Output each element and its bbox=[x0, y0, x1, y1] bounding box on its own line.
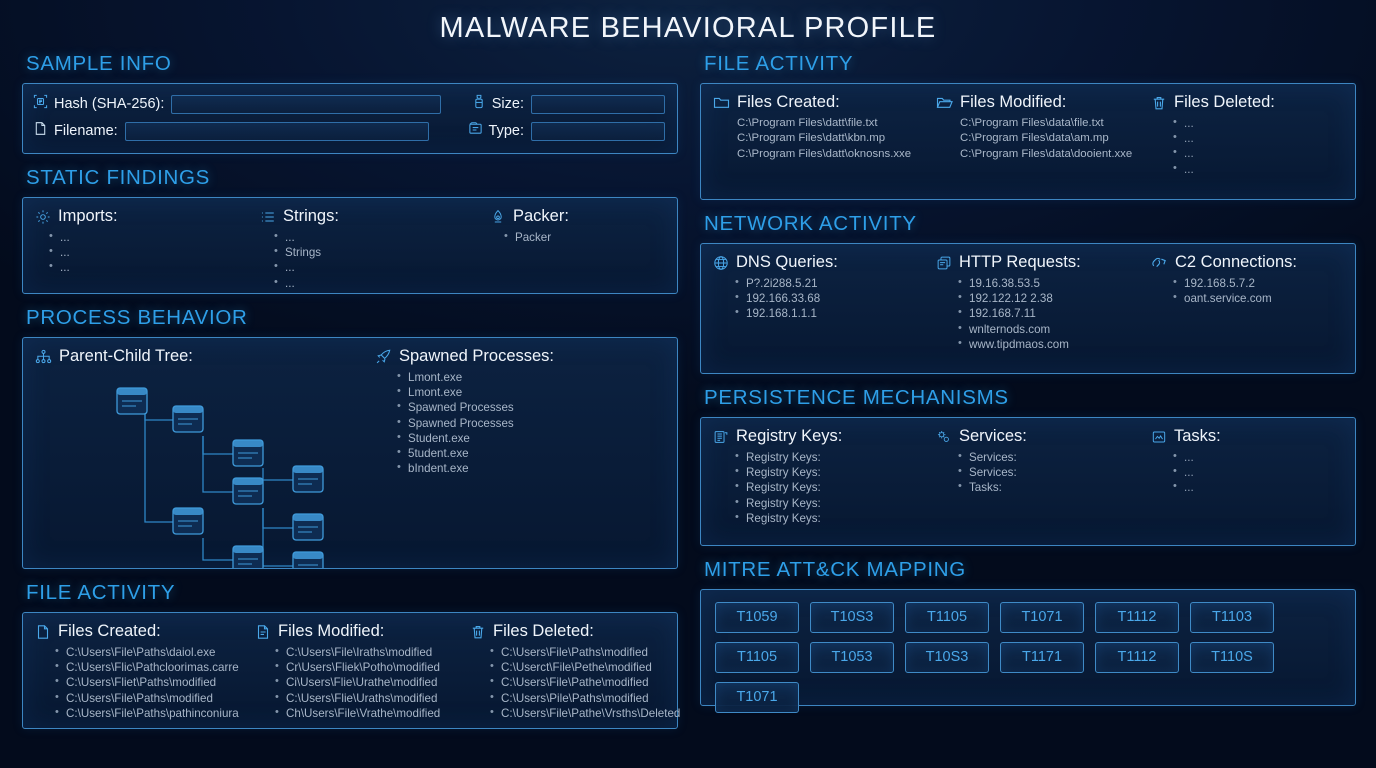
services-label: Services: bbox=[959, 427, 1027, 446]
files-created-list-bottom: C:\Users\File\Paths\daiol.exe C:\Users\F… bbox=[55, 645, 255, 721]
services-list: Services: Services: Tasks: bbox=[958, 450, 1151, 496]
list-item: Student.exe bbox=[397, 431, 554, 446]
list-item: ... bbox=[1173, 480, 1221, 495]
list-item: C:\Userct\File\Pethe\modified bbox=[490, 660, 680, 675]
field-type: Type: bbox=[468, 121, 665, 141]
http-requests-header: HTTP Requests: bbox=[936, 253, 1151, 272]
mitre-chip[interactable]: T1112 bbox=[1095, 602, 1179, 633]
list-item: C:\Users\File\Iraths\modified bbox=[275, 645, 470, 660]
list-item: Packer bbox=[504, 230, 569, 245]
static-group-strings-header: Strings: bbox=[260, 207, 490, 226]
files-created-header-bottom: Files Created: bbox=[35, 622, 255, 641]
static-group-imports: Imports: ... ... ... bbox=[35, 207, 260, 291]
list-item: Registry Keys: bbox=[735, 511, 936, 526]
section-title-mitre: MITRE ATT&CK MAPPING bbox=[704, 558, 1356, 582]
list-item: C:\Users\Flic\Pathcloorimas.carre bbox=[55, 660, 255, 675]
spawned-processes-label: Spawned Processes: bbox=[399, 347, 554, 366]
section-title-static-findings: STATIC FINDINGS bbox=[26, 166, 678, 190]
files-created-list-top: C:\Program Files\datt\file.txt C:\Progra… bbox=[737, 116, 936, 162]
list-item: ... bbox=[1173, 116, 1275, 131]
list-item: C:\Users\File\Paths\modified bbox=[55, 691, 255, 706]
services-icon bbox=[936, 429, 952, 445]
tasks-group: Tasks: ... ... ... bbox=[1151, 427, 1221, 526]
field-label-filename: Filename: bbox=[54, 123, 118, 139]
tasks-header: Tasks: bbox=[1151, 427, 1221, 446]
list-item: C:\Users\Pile\Paths\modified bbox=[490, 691, 680, 706]
sitemap-icon bbox=[35, 349, 52, 365]
list-item: Ch\Users\File\Vrathe\modified bbox=[275, 706, 470, 721]
section-title-sample-info: SAMPLE INFO bbox=[26, 52, 678, 76]
list-item: 192.168.1.1.1 bbox=[735, 306, 936, 321]
spawned-processes-list: Lmont.exe Lmont.exe Spawned Processes Sp… bbox=[397, 370, 554, 476]
sample-info-panel: Hash (SHA-256): Size: bbox=[22, 83, 678, 154]
files-created-label-top: Files Created: bbox=[737, 93, 840, 112]
trash-icon bbox=[470, 624, 486, 640]
packer-list: Packer bbox=[504, 230, 569, 245]
files-modified-list-bottom: C:\Users\File\Iraths\modified Cr\Users\F… bbox=[275, 645, 470, 721]
registry-keys-header: Registry Keys: bbox=[713, 427, 936, 446]
folder-open-icon bbox=[936, 95, 953, 110]
trash-icon bbox=[1151, 95, 1167, 111]
parent-child-tree-header: Parent-Child Tree: bbox=[35, 347, 375, 366]
form-row-filename: Filename: Type: bbox=[33, 121, 665, 141]
dns-queries-group: DNS Queries: P?.2i288.5.21 192.166.33.68… bbox=[713, 253, 936, 352]
c2-link-icon bbox=[1151, 255, 1168, 271]
list-item: C:\Users\File\Pathe\modified bbox=[490, 675, 680, 690]
tasks-list: ... ... ... bbox=[1173, 450, 1221, 496]
list-item: ... bbox=[274, 260, 490, 275]
list-item: C:\Users\File\Paths\modified bbox=[490, 645, 680, 660]
list-item: ... bbox=[1173, 162, 1275, 177]
section-title-process-behavior: PROCESS BEHAVIOR bbox=[26, 306, 678, 330]
files-deleted-group-bottom: Files Deleted: C:\Users\File\Paths\modif… bbox=[470, 622, 680, 721]
persistence-columns: Registry Keys: Registry Keys: Registry K… bbox=[713, 427, 1343, 526]
registry-icon bbox=[713, 429, 729, 445]
strings-list: ... Strings ... ... bbox=[274, 230, 490, 291]
globe-icon bbox=[713, 255, 729, 271]
network-activity-panel: DNS Queries: P?.2i288.5.21 192.166.33.68… bbox=[700, 243, 1356, 374]
c2-connections-list: 192.168.5.7.2 oant.service.com bbox=[1173, 276, 1297, 306]
filename-input[interactable] bbox=[125, 122, 429, 141]
services-group: Services: Services: Services: Tasks: bbox=[936, 427, 1151, 526]
size-input[interactable] bbox=[531, 95, 665, 114]
files-modified-group-top: Files Modified: C:\Program Files\data\fi… bbox=[936, 93, 1151, 177]
files-deleted-label-bottom: Files Deleted: bbox=[493, 622, 594, 641]
files-modified-label-top: Files Modified: bbox=[960, 93, 1066, 112]
file-type-icon bbox=[468, 121, 483, 141]
process-tree bbox=[35, 370, 375, 568]
list-item: C:\Program Files\data\am.mp bbox=[960, 131, 1151, 146]
tasks-label: Tasks: bbox=[1174, 427, 1221, 446]
c2-connections-group: C2 Connections: 192.168.5.7.2 oant.servi… bbox=[1151, 253, 1297, 352]
mitre-chip[interactable]: T1053 bbox=[810, 642, 894, 673]
list-item: 192.168.7.11 bbox=[958, 306, 1151, 321]
network-activity-columns: DNS Queries: P?.2i288.5.21 192.166.33.68… bbox=[713, 253, 1343, 352]
mitre-chip[interactable]: T1103 bbox=[1190, 602, 1274, 633]
mitre-chip[interactable]: T110S bbox=[1190, 642, 1274, 673]
list-item: Registry Keys: bbox=[735, 480, 936, 495]
process-behavior-columns: Parent-Child Tree: bbox=[35, 347, 665, 568]
list-item: ... bbox=[1173, 146, 1275, 161]
list-item: Lmont.exe bbox=[397, 385, 554, 400]
list-item: C:\Users\File\Paths\pathinconiura bbox=[55, 706, 255, 721]
files-created-group-bottom: Files Created: C:\Users\File\Paths\daiol… bbox=[35, 622, 255, 721]
services-header: Services: bbox=[936, 427, 1151, 446]
list-item: Registry Keys: bbox=[735, 465, 936, 480]
parent-child-tree-group: Parent-Child Tree: bbox=[35, 347, 375, 568]
section-title-persistence: PERSISTENCE MECHANISMS bbox=[704, 386, 1356, 410]
registry-keys-list: Registry Keys: Registry Keys: Registry K… bbox=[735, 450, 936, 526]
files-modified-header-top: Files Modified: bbox=[936, 93, 1151, 112]
field-size: Size: bbox=[472, 94, 665, 114]
files-modified-header-bottom: Files Modified: bbox=[255, 622, 470, 641]
files-deleted-group-top: Files Deleted: ... ... ... ... bbox=[1151, 93, 1275, 177]
file-edit-icon bbox=[255, 624, 271, 640]
static-group-strings: Strings: ... Strings ... ... bbox=[260, 207, 490, 291]
form-row-hash: Hash (SHA-256): Size: bbox=[33, 94, 665, 114]
file-icon bbox=[33, 121, 48, 141]
list-item: C:\Users\File\Paths\daiol.exe bbox=[55, 645, 255, 660]
tasks-icon bbox=[1151, 429, 1167, 445]
list-item: wnlternods.com bbox=[958, 322, 1151, 337]
list-item: 5tudent.exe bbox=[397, 446, 554, 461]
folder-icon bbox=[713, 95, 730, 110]
static-findings-columns: Imports: ... ... ... bbox=[35, 207, 665, 291]
list-item: ... bbox=[49, 230, 260, 245]
files-created-header-top: Files Created: bbox=[713, 93, 936, 112]
dns-queries-list: P?.2i288.5.21 192.166.33.68 192.168.1.1.… bbox=[735, 276, 936, 322]
mitre-technique-chips: T1059 T10S3 T1105 T1071 T1112 T1103 T110… bbox=[713, 599, 1343, 717]
list-item: C:\Program Files\data\dooient.xxe bbox=[960, 147, 1151, 162]
static-group-packer: Packer: Packer bbox=[490, 207, 569, 291]
list-item: C:\Program Files\datt\file.txt bbox=[737, 116, 936, 131]
list-item: Spawned Processes bbox=[397, 416, 554, 431]
field-label-hash: Hash (SHA-256): bbox=[54, 96, 164, 112]
static-group-strings-label: Strings: bbox=[283, 207, 339, 226]
list-item: C:\Users\File\Pathe\Vrsths\Deleted bbox=[490, 706, 680, 721]
list-item: P?.2i288.5.21 bbox=[735, 276, 936, 291]
static-group-packer-label: Packer: bbox=[513, 207, 569, 226]
field-label-type: Type: bbox=[489, 123, 524, 139]
files-deleted-label-top: Files Deleted: bbox=[1174, 93, 1275, 112]
mitre-chip[interactable]: T10S3 bbox=[810, 602, 894, 633]
list-item: 192.122.12 2.38 bbox=[958, 291, 1151, 306]
list-item: Lmont.exe bbox=[397, 370, 554, 385]
field-label-size: Size: bbox=[492, 96, 524, 112]
list-item: C:\Users\Fliet\Paths\modified bbox=[55, 675, 255, 690]
files-deleted-list-bottom: C:\Users\File\Paths\modified C:\Userct\F… bbox=[490, 645, 680, 721]
list-item: C:\Program Files\datt\kbn.mp bbox=[737, 131, 936, 146]
list-item: 19.16.38.53.5 bbox=[958, 276, 1151, 291]
list-item: ... bbox=[49, 260, 260, 275]
process-behavior-panel: Parent-Child Tree: bbox=[22, 337, 678, 569]
left-column: SAMPLE INFO Hash (SHA-256): bbox=[22, 52, 678, 729]
type-input[interactable] bbox=[531, 122, 665, 141]
static-group-imports-label: Imports: bbox=[58, 207, 118, 226]
list-item: 192.166.33.68 bbox=[735, 291, 936, 306]
files-modified-group-bottom: Files Modified: C:\Users\File\Iraths\mod… bbox=[255, 622, 470, 721]
list-item: Cr\Users\Fliek\Potho\modified bbox=[275, 660, 470, 675]
right-column: FILE ACTIVITY Files Created: C:\Program … bbox=[700, 52, 1356, 706]
imports-list: ... ... ... bbox=[49, 230, 260, 276]
list-item: Spawned Processes bbox=[397, 400, 554, 415]
section-title-file-activity-bottom: FILE ACTIVITY bbox=[26, 581, 678, 605]
list-item: Services: bbox=[958, 450, 1151, 465]
list-item: C:\Program Files\data\file.txt bbox=[960, 116, 1151, 131]
list-item: ... bbox=[274, 230, 490, 245]
spawned-processes-header: Spawned Processes: bbox=[375, 347, 554, 366]
malware-profile-dashboard: MALWARE BEHAVIORAL PROFILE SAMPLE INFO H… bbox=[0, 0, 1376, 768]
gear-icon bbox=[35, 209, 51, 225]
list-item: ... bbox=[1173, 131, 1275, 146]
list-item: ... bbox=[49, 245, 260, 260]
c2-connections-header: C2 Connections: bbox=[1151, 253, 1297, 272]
files-created-label-bottom: Files Created: bbox=[58, 622, 161, 641]
mitre-chip[interactable]: T1059 bbox=[715, 602, 799, 633]
files-modified-list-top: C:\Program Files\data\file.txt C:\Progra… bbox=[960, 116, 1151, 162]
mitre-chip[interactable]: T1112 bbox=[1095, 642, 1179, 673]
size-icon bbox=[472, 94, 486, 114]
hash-input[interactable] bbox=[171, 95, 441, 114]
mitre-chip[interactable]: T1071 bbox=[715, 682, 799, 713]
page-title: MALWARE BEHAVIORAL PROFILE bbox=[0, 12, 1376, 45]
static-group-imports-header: Imports: bbox=[35, 207, 260, 226]
mitre-chip[interactable]: T10S3 bbox=[905, 642, 989, 673]
http-icon bbox=[936, 255, 952, 271]
list-item: www.tipdmaos.com bbox=[958, 337, 1151, 352]
mitre-chip[interactable]: T1105 bbox=[715, 642, 799, 673]
list-item: C:\Users\Flie\Uraths\modified bbox=[275, 691, 470, 706]
files-deleted-header-bottom: Files Deleted: bbox=[470, 622, 680, 641]
list-item: 192.168.5.7.2 bbox=[1173, 276, 1297, 291]
registry-keys-label: Registry Keys: bbox=[736, 427, 842, 446]
list-icon bbox=[260, 209, 276, 225]
static-findings-panel: Imports: ... ... ... bbox=[22, 197, 678, 294]
file-activity-top-panel: Files Created: C:\Program Files\datt\fil… bbox=[700, 83, 1356, 200]
dns-queries-label: DNS Queries: bbox=[736, 253, 838, 272]
mitre-chip[interactable]: T1105 bbox=[905, 602, 989, 633]
http-requests-label: HTTP Requests: bbox=[959, 253, 1081, 272]
files-deleted-list-top: ... ... ... ... bbox=[1173, 116, 1275, 177]
parent-child-tree-label: Parent-Child Tree: bbox=[59, 347, 193, 366]
files-deleted-header-top: Files Deleted: bbox=[1151, 93, 1275, 112]
file-activity-top-columns: Files Created: C:\Program Files\datt\fil… bbox=[713, 93, 1343, 177]
spawned-processes-group: Spawned Processes: Lmont.exe Lmont.exe S… bbox=[375, 347, 554, 568]
mitre-chip[interactable]: T1171 bbox=[1000, 642, 1084, 673]
rocket-icon bbox=[375, 348, 392, 365]
mitre-panel: T1059 T10S3 T1105 T1071 T1112 T1103 T110… bbox=[700, 589, 1356, 706]
list-item: Tasks: bbox=[958, 480, 1151, 495]
file-activity-bottom-panel: Files Created: C:\Users\File\Paths\daiol… bbox=[22, 612, 678, 729]
http-requests-group: HTTP Requests: 19.16.38.53.5 192.122.12 … bbox=[936, 253, 1151, 352]
field-hash: Hash (SHA-256): bbox=[33, 94, 454, 114]
list-item: Registry Keys: bbox=[735, 496, 936, 511]
file-plus-icon bbox=[35, 624, 51, 640]
files-modified-label-bottom: Files Modified: bbox=[278, 622, 384, 641]
fingerprint-icon bbox=[33, 94, 48, 114]
c2-connections-label: C2 Connections: bbox=[1175, 253, 1297, 272]
packer-icon bbox=[490, 209, 506, 225]
dns-queries-header: DNS Queries: bbox=[713, 253, 936, 272]
section-title-network-activity: NETWORK ACTIVITY bbox=[704, 212, 1356, 236]
list-item: ... bbox=[1173, 465, 1221, 480]
registry-keys-group: Registry Keys: Registry Keys: Registry K… bbox=[713, 427, 936, 526]
file-activity-bottom-columns: Files Created: C:\Users\File\Paths\daiol… bbox=[35, 622, 665, 721]
list-item: Services: bbox=[958, 465, 1151, 480]
list-item: Ci\Users\Flie\Urathe\modified bbox=[275, 675, 470, 690]
field-filename: Filename: bbox=[33, 121, 450, 141]
list-item: Strings bbox=[274, 245, 490, 260]
list-item: ... bbox=[1173, 450, 1221, 465]
mitre-chip[interactable]: T1071 bbox=[1000, 602, 1084, 633]
list-item: oant.service.com bbox=[1173, 291, 1297, 306]
list-item: Registry Keys: bbox=[735, 450, 936, 465]
http-requests-list: 19.16.38.53.5 192.122.12 2.38 192.168.7.… bbox=[958, 276, 1151, 352]
section-title-file-activity-top: FILE ACTIVITY bbox=[704, 52, 1356, 76]
persistence-panel: Registry Keys: Registry Keys: Registry K… bbox=[700, 417, 1356, 546]
list-item: ... bbox=[274, 276, 490, 291]
list-item: bIndent.exe bbox=[397, 461, 554, 476]
files-created-group-top: Files Created: C:\Program Files\datt\fil… bbox=[713, 93, 936, 177]
list-item: C:\Program Files\datt\oknosns.xxe bbox=[737, 147, 936, 162]
static-group-packer-header: Packer: bbox=[490, 207, 569, 226]
